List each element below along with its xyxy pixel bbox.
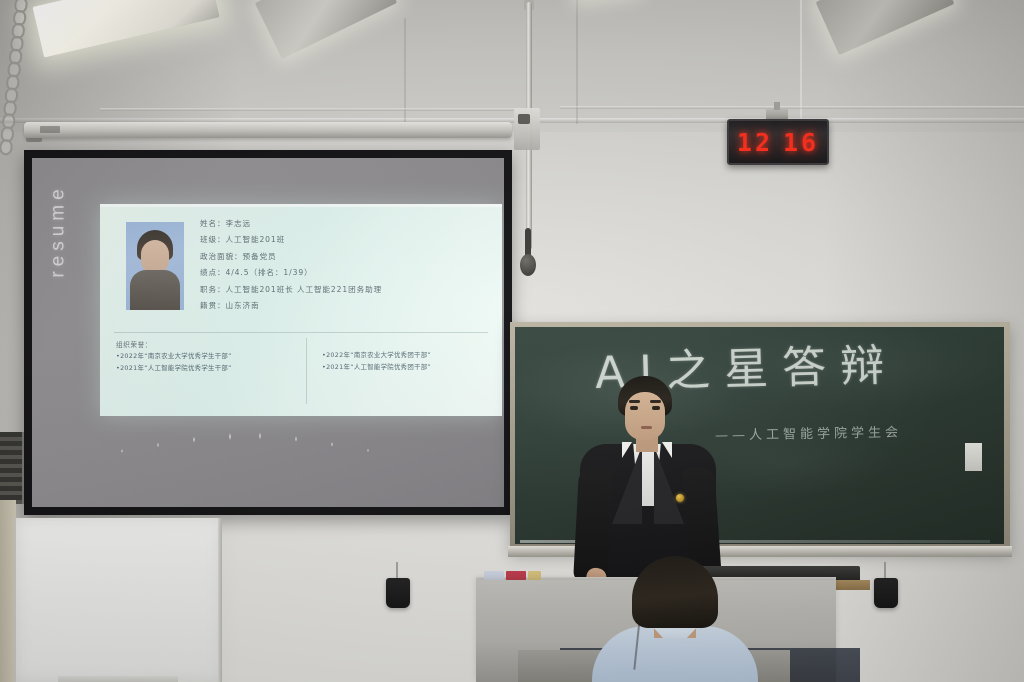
- award-item: •2021年“人工智能学院优秀学生干部”: [116, 363, 296, 375]
- lapel-badge-icon: [676, 494, 684, 502]
- screen-glare: [92, 430, 392, 460]
- wall-speaker: [386, 578, 410, 608]
- classroom-scene: 姓名：李志远 班级：人工智能201班 政治面貌：预备党员 绩点：4/4.5（排名…: [0, 0, 1024, 682]
- slide-line: 绩点：4/4.5（排名：1/39）: [200, 265, 496, 281]
- pole-bracket: [514, 108, 540, 150]
- seated-listener-light-blue-shirt: [592, 556, 758, 682]
- presenter-head: [618, 376, 672, 442]
- slide-divider: [114, 332, 488, 333]
- slide-line: 职务：人工智能201班长 人工智能221团务助理: [200, 282, 496, 298]
- slide-line: 姓名：李志远: [200, 216, 496, 232]
- id-photo: [126, 222, 184, 310]
- projected-slide: 姓名：李志远 班级：人工智能201班 政治面貌：预备党员 绩点：4/4.5（排名…: [100, 204, 502, 416]
- blackboard-note-card: [965, 443, 982, 471]
- slide-info-lines: 姓名：李志远 班级：人工智能201班 政治面貌：预备党员 绩点：4/4.5（排名…: [200, 216, 496, 314]
- slide-line: 政治面貌：预备党员: [200, 249, 496, 265]
- wall-speaker: [874, 578, 898, 608]
- awards-left-column: 组织荣誉： •2022年“南京农业大学优秀学生干部” •2021年“人工智能学院…: [116, 340, 296, 374]
- pull-hook-icon: [519, 228, 537, 286]
- wall-rail: [100, 108, 520, 111]
- award-item: •2022年“南京农业大学优秀学生干部”: [116, 351, 296, 363]
- slide-line: 班级：人工智能201班: [200, 232, 496, 248]
- award-item: •2022年“南京农业大学优秀团干部”: [322, 350, 502, 362]
- slide-side-label: resume: [48, 184, 70, 277]
- wall-digital-clock: 12 16: [727, 119, 829, 165]
- award-item: •2021年“人工智能学院优秀团干部”: [322, 362, 502, 374]
- slide-line: 籍贯：山东济南: [200, 298, 496, 314]
- whiteboard-tray: [58, 676, 178, 682]
- blackboard-subtitle: ——人工智能学院学生会: [715, 421, 902, 443]
- projector-screen[interactable]: 姓名：李志远 班级：人工智能201班 政治面貌：预备党员 绩点：4/4.5（排名…: [24, 150, 512, 515]
- screen-roller-housing: [24, 122, 512, 138]
- slide-divider-vertical: [306, 338, 307, 404]
- whiteboard-panel[interactable]: [14, 518, 222, 682]
- wall-rail: [560, 106, 1024, 109]
- wall-vent: [0, 432, 24, 504]
- awards-title: 组织荣誉：: [116, 340, 296, 351]
- awards-right-column: •2022年“南京农业大学优秀团干部” •2021年“人工智能学院优秀团干部”: [322, 350, 502, 373]
- clock-minutes: 16: [783, 128, 819, 157]
- clock-hours: 12: [737, 128, 773, 157]
- screen-surface: 姓名：李志远 班级：人工智能201班 政治面貌：预备党员 绩点：4/4.5（排名…: [32, 158, 504, 507]
